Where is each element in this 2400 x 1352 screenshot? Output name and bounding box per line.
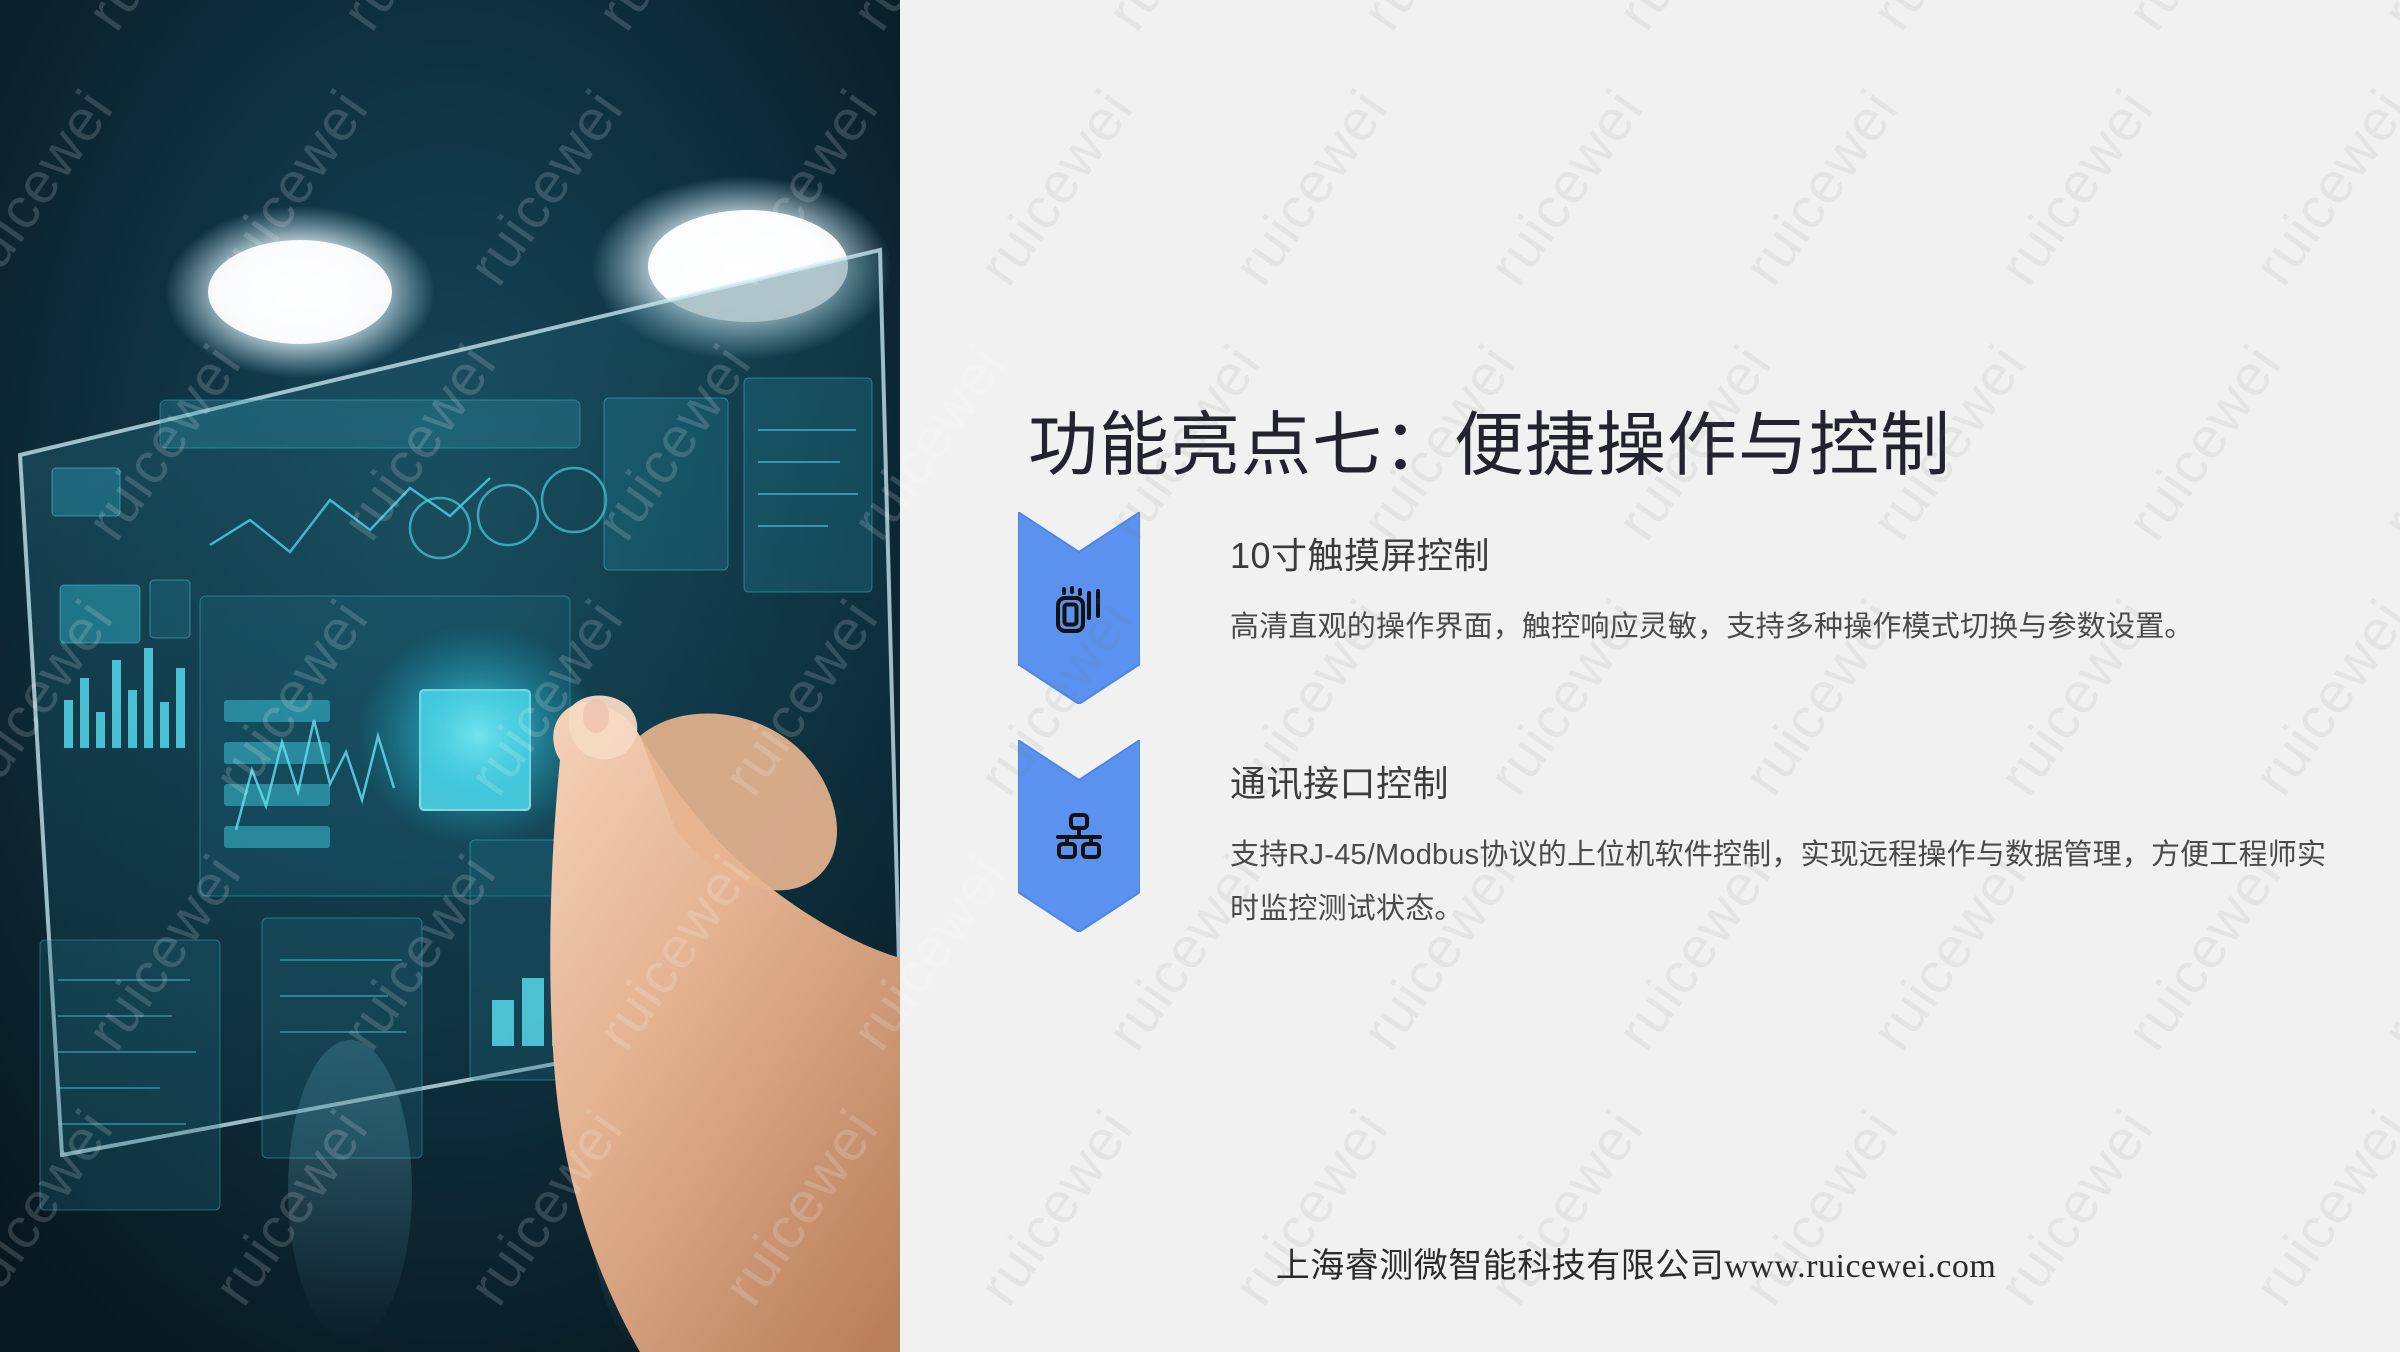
network-sitemap-icon	[1018, 740, 1140, 932]
feature-item-communication: 通讯接口控制 支持RJ-45/Modbus协议的上位机软件控制，实现远程操作与数…	[1018, 740, 2348, 936]
feature-text-block: 通讯接口控制 支持RJ-45/Modbus协议的上位机软件控制，实现远程操作与数…	[1230, 740, 2348, 936]
slide-root: 功能亮点七：便捷操作与控制	[0, 0, 2400, 1352]
feature-title: 10寸触摸屏控制	[1230, 534, 2348, 578]
feature-title: 通讯接口控制	[1230, 762, 2348, 806]
feature-badge	[1018, 740, 1140, 932]
feature-badge	[1018, 512, 1140, 704]
feature-item-touchscreen: 10寸触摸屏控制 高清直观的操作界面，触控响应灵敏，支持多种操作模式切换与参数设…	[1018, 512, 2348, 704]
content-panel: 功能亮点七：便捷操作与控制	[900, 0, 2400, 1352]
touchscreen-tap-icon	[1018, 512, 1140, 704]
hero-image-illustration	[0, 0, 900, 1352]
page-title: 功能亮点七：便捷操作与控制	[1028, 402, 1951, 488]
feature-description: 支持RJ-45/Modbus协议的上位机软件控制，实现远程操作与数据管理，方便工…	[1230, 828, 2348, 936]
company-footer: 上海睿测微智能科技有限公司www.ruicewei.com	[900, 1245, 2400, 1289]
hero-image	[0, 0, 900, 1352]
feature-text-block: 10寸触摸屏控制 高清直观的操作界面，触控响应灵敏，支持多种操作模式切换与参数设…	[1230, 512, 2348, 654]
feature-description: 高清直观的操作界面，触控响应灵敏，支持多种操作模式切换与参数设置。	[1230, 600, 2348, 654]
